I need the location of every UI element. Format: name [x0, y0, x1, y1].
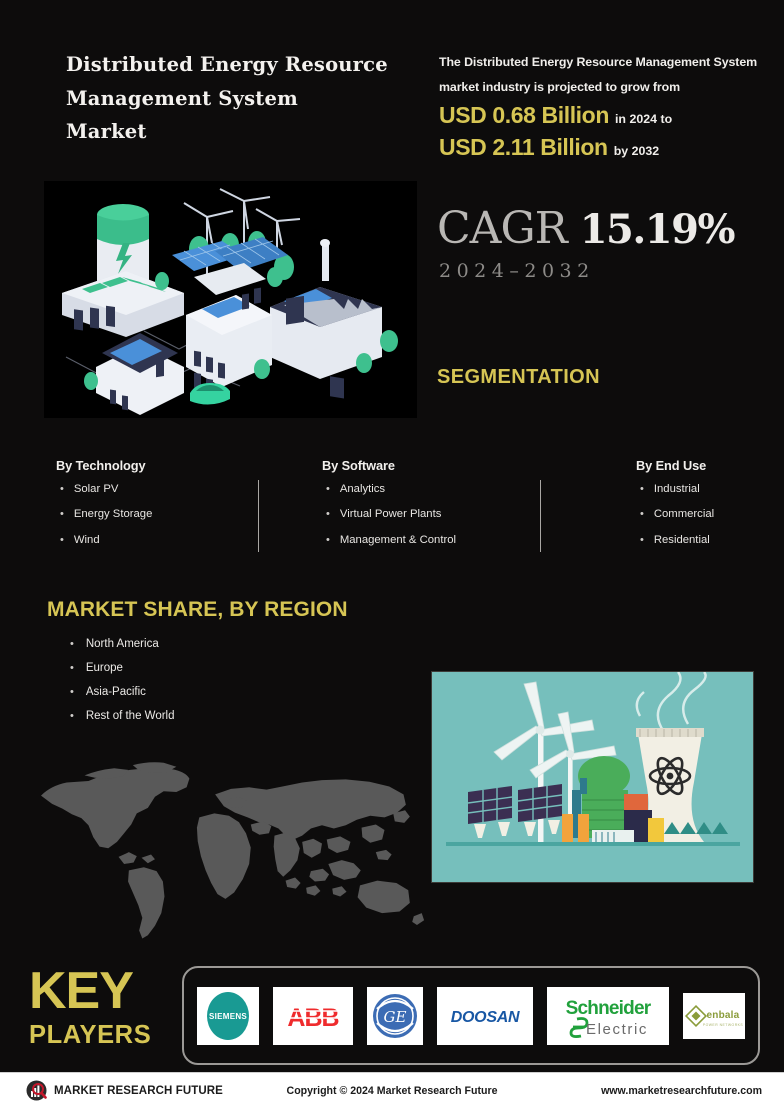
title-line-1: Distributed Energy Resource — [66, 48, 416, 82]
segmentation-column-heading: By End Use — [636, 458, 784, 473]
bullet-icon: • — [326, 509, 330, 520]
bullet-icon: • — [640, 509, 644, 520]
bullet-icon: • — [326, 484, 330, 495]
segmentation-item-label: Industrial — [654, 484, 700, 495]
segmentation-divider-1 — [258, 480, 259, 552]
bullet-icon: • — [70, 711, 74, 722]
market-share-region-list: • North America • Europe • Asia-Pacific … — [70, 639, 300, 735]
siemens-logo: SIEMENS — [197, 987, 259, 1045]
schneider-electric-logo-icon: Schneider Electric — [547, 987, 669, 1045]
abb-logo-icon: ABB — [273, 987, 353, 1045]
infographic-poster: Distributed Energy Resource Management S… — [0, 0, 784, 1108]
bullet-icon: • — [640, 484, 644, 495]
footer-brand-text: MARKET RESEARCH FUTURE — [54, 1085, 223, 1097]
key-players-label: KEY PLAYERS — [29, 966, 179, 1049]
region-item: • Asia-Pacific — [70, 687, 300, 699]
distributed-energy-isometric-illustration — [44, 181, 417, 418]
region-item: • Rest of the World — [70, 711, 300, 723]
projection-from-suffix: in 2024 to — [615, 112, 672, 126]
svg-text:GE: GE — [384, 1008, 407, 1026]
segmentation-item: • Energy Storage — [56, 509, 256, 520]
side-image — [431, 671, 754, 883]
projection-to-suffix: by 2032 — [614, 144, 659, 158]
segmentation-item: • Analytics — [322, 484, 552, 495]
ge-logo-icon: GE — [367, 987, 423, 1045]
market-research-future-logo-icon — [26, 1080, 47, 1101]
segmentation-column-technology: By Technology • Solar PV • Energy Storag… — [56, 458, 256, 560]
svg-text:SIEMENS: SIEMENS — [209, 1012, 247, 1021]
bullet-icon: • — [70, 663, 74, 674]
schneider-electric-logo: Schneider Electric — [547, 987, 669, 1045]
cagr-period: 2024–2032 — [439, 260, 734, 282]
segmentation-item-label: Residential — [654, 535, 710, 546]
segmentation-columns: By Technology • Solar PV • Energy Storag… — [52, 458, 742, 562]
segmentation-item: • Residential — [636, 535, 784, 546]
world-map — [28, 758, 426, 944]
region-label: Asia-Pacific — [86, 687, 146, 699]
region-label: Europe — [86, 663, 123, 675]
segmentation-item: • Virtual Power Plants — [322, 509, 552, 520]
segmentation-item: • Wind — [56, 535, 256, 546]
segmentation-item-label: Management & Control — [340, 535, 456, 546]
segmentation-item-label: Wind — [74, 535, 100, 546]
enbala-logo-icon: enbala POWER NETWORKS — [683, 993, 745, 1039]
segmentation-column-software: By Software • Analytics • Virtual Power … — [322, 458, 552, 560]
segmentation-item-label: Virtual Power Plants — [340, 509, 442, 520]
cagr-block: CAGR 15.19% 2024–2032 — [437, 203, 734, 282]
projection-line-1: The Distributed Energy Resource Manageme… — [439, 50, 759, 75]
title-line-2: Management System — [66, 82, 416, 116]
doosan-logo: DOOSAN — [437, 987, 533, 1045]
segmentation-heading: SEGMENTATION — [437, 366, 600, 389]
svg-text:Schneider: Schneider — [566, 998, 652, 1019]
bullet-icon: • — [60, 509, 64, 520]
svg-text:POWER NETWORKS: POWER NETWORKS — [703, 1023, 744, 1027]
bullet-icon: • — [60, 484, 64, 495]
cagr-value: 15.19% — [580, 206, 734, 253]
region-label: North America — [86, 639, 159, 651]
segmentation-item: • Industrial — [636, 484, 784, 495]
ge-logo: GE — [367, 987, 423, 1045]
projection-to: USD 2.11 Billion by 2032 — [439, 133, 759, 162]
svg-text:Electric: Electric — [586, 1021, 648, 1038]
cagr-row: CAGR 15.19% — [437, 203, 734, 254]
key-players-label-top: KEY — [29, 966, 179, 1017]
region-label: Rest of the World — [86, 711, 175, 723]
region-item: • Europe — [70, 663, 300, 675]
key-players-label-bottom: PLAYERS — [29, 1021, 179, 1049]
svg-text:enbala: enbala — [707, 1010, 740, 1021]
region-item: • North America — [70, 639, 300, 651]
segmentation-item: • Management & Control — [322, 535, 552, 546]
segmentation-item-label: Analytics — [340, 484, 385, 495]
segmentation-column-heading: By Software — [322, 458, 552, 473]
renewable-energy-plant-illustration — [432, 672, 753, 882]
segmentation-item: • Solar PV — [56, 484, 256, 495]
bullet-icon: • — [326, 535, 330, 546]
world-map-icon — [28, 758, 426, 944]
segmentation-item-label: Commercial — [654, 509, 714, 520]
svg-text:DOOSAN: DOOSAN — [451, 1009, 520, 1026]
projection-block: The Distributed Energy Resource Manageme… — [439, 50, 759, 162]
footer-copyright: Copyright © 2024 Market Research Future — [287, 1085, 498, 1097]
bullet-icon: • — [60, 535, 64, 546]
key-players-logo-box: SIEMENS ABB GE — [182, 966, 760, 1065]
doosan-logo-icon: DOOSAN — [437, 987, 533, 1045]
projection-line-2: market industry is projected to grow fro… — [439, 75, 759, 100]
segmentation-column-end-use: By End Use • Industrial • Commercial • R… — [636, 458, 784, 560]
segmentation-item-label: Energy Storage — [74, 509, 153, 520]
segmentation-item: • Commercial — [636, 509, 784, 520]
hero-image — [44, 181, 417, 418]
projection-from-amount: USD 0.68 Billion — [439, 101, 609, 130]
enbala-logo: enbala POWER NETWORKS — [683, 993, 745, 1039]
footer-brand: MARKET RESEARCH FUTURE — [26, 1080, 223, 1101]
projection-to-amount: USD 2.11 Billion — [439, 133, 608, 162]
bullet-icon: • — [70, 639, 74, 650]
footer: MARKET RESEARCH FUTURE Copyright © 2024 … — [0, 1072, 784, 1108]
segmentation-column-heading: By Technology — [56, 458, 256, 473]
footer-url[interactable]: www.marketresearchfuture.com — [601, 1085, 762, 1097]
abb-logo: ABB — [273, 987, 353, 1045]
market-share-heading: MARKET SHARE, BY REGION — [47, 598, 348, 622]
segmentation-item-label: Solar PV — [74, 484, 119, 495]
title-line-3: Market — [66, 115, 416, 149]
bullet-icon: • — [70, 687, 74, 698]
page-title: Distributed Energy Resource Management S… — [66, 48, 416, 149]
projection-from: USD 0.68 Billion in 2024 to — [439, 101, 759, 130]
cagr-label: CAGR — [437, 203, 567, 254]
siemens-logo-icon: SIEMENS — [197, 987, 259, 1045]
bullet-icon: • — [640, 535, 644, 546]
